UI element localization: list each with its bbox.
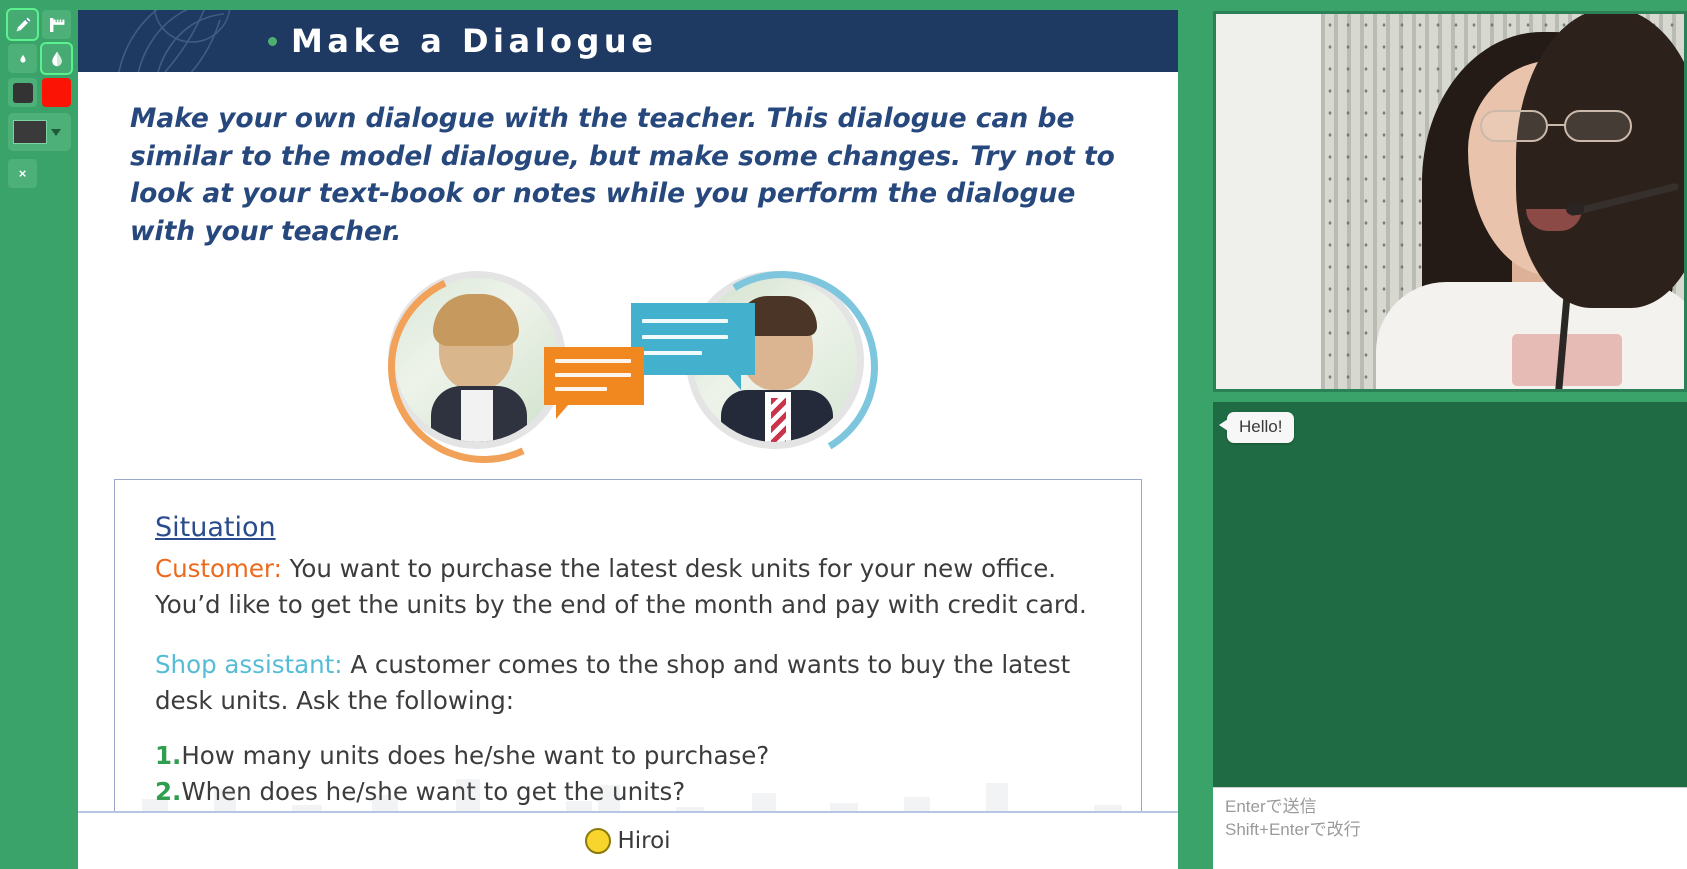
teacher-hair-front	[1516, 11, 1687, 308]
avatar-customer	[388, 271, 566, 449]
customer-line: Customer: You want to purchase the lates…	[155, 551, 1101, 624]
chat-message-bubble: Hello!	[1227, 412, 1294, 443]
dark-color-swatch[interactable]	[8, 78, 37, 107]
right-panel: Hello! Enterで送信 Shift+Enterで改行	[1196, 0, 1687, 869]
sun-icon	[585, 828, 611, 854]
glasses-icon	[1472, 110, 1644, 144]
chat-message-list[interactable]: Hello!	[1213, 402, 1687, 787]
slide-canvas[interactable]: Make a Dialogue Make your own dialogue w…	[78, 10, 1178, 869]
teacher-video-tile[interactable]	[1213, 11, 1687, 392]
assistant-role-label: Shop assistant:	[155, 650, 343, 679]
toolbar-row-tools-2	[8, 44, 78, 73]
pen-tool-button[interactable]	[8, 10, 37, 39]
leaf-decoration-icon	[88, 10, 268, 72]
toolbar-row-tools-1	[8, 10, 78, 39]
toolbar-swatch-row	[8, 78, 78, 107]
assistant-line: Shop assistant: A customer comes to the …	[155, 647, 1101, 720]
slide-instructions: Make your own dialogue with the teacher.…	[78, 72, 1178, 251]
situation-heading: Situation	[155, 512, 1101, 543]
teacher-shirt-print	[1512, 334, 1622, 386]
close-toolbar-button[interactable]: ×	[8, 159, 37, 188]
speech-bubble-orange	[544, 347, 644, 405]
pen-icon	[13, 15, 33, 35]
speech-bubble-blue	[631, 303, 755, 375]
chat-placeholder-line-2: Shift+Enterで改行	[1225, 819, 1675, 842]
color-picker-dropdown[interactable]	[8, 113, 71, 151]
current-color-chip	[13, 120, 47, 144]
slide-header: Make a Dialogue	[78, 10, 1178, 72]
app-root: × Make a Dialogue Make your own dialogue…	[0, 0, 1687, 869]
large-drop-tool-button[interactable]	[42, 44, 71, 73]
footer-brand-label: Hiroi	[617, 828, 670, 854]
red-color-swatch[interactable]	[42, 78, 71, 107]
annotation-toolbar: ×	[0, 0, 78, 869]
chat-message-row: Hello!	[1213, 402, 1687, 443]
headset-mic-tip	[1566, 202, 1584, 215]
droplet-large-icon	[47, 49, 67, 69]
customer-description: You want to purchase the latest desk uni…	[155, 554, 1087, 619]
line-tool-button[interactable]	[42, 10, 71, 39]
page-title: Make a Dialogue	[291, 22, 657, 60]
customer-role-label: Customer:	[155, 554, 282, 583]
chevron-down-icon[interactable]	[51, 129, 61, 136]
dialogue-illustration	[78, 267, 1178, 467]
slide-footer: Hiroi	[78, 811, 1178, 869]
panel-divider	[1178, 0, 1196, 869]
chat-placeholder-line-1: Enterで送信	[1225, 796, 1675, 819]
droplet-small-icon	[13, 49, 33, 69]
ruler-icon	[47, 15, 67, 35]
small-drop-tool-button[interactable]	[8, 44, 37, 73]
title-bullet-icon	[268, 37, 277, 46]
chat-input-field[interactable]: Enterで送信 Shift+Enterで改行	[1213, 787, 1687, 869]
